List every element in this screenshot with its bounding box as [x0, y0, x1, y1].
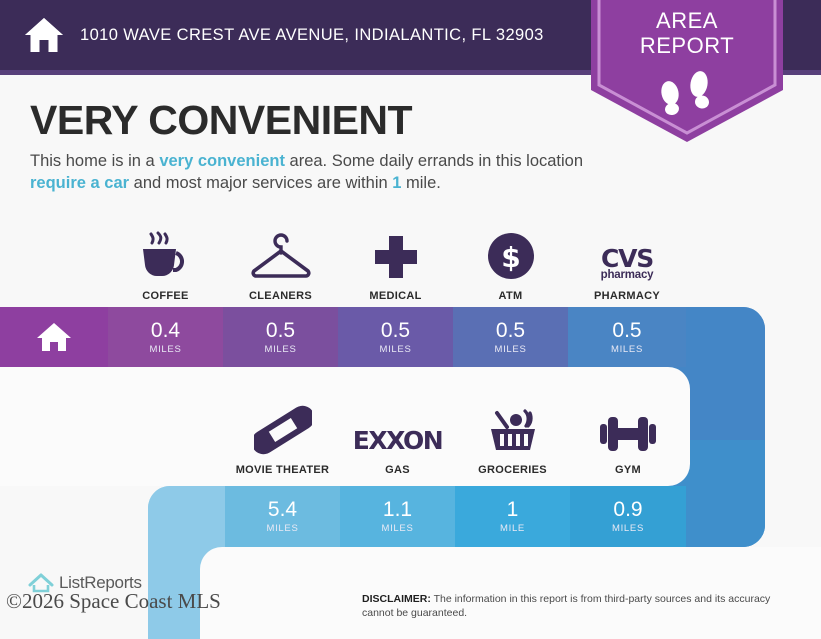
distance-unit: MILES [381, 523, 413, 534]
dumbbell-icon [597, 403, 659, 455]
distance-unit: MILES [379, 344, 411, 355]
desc-text-4: mile. [401, 174, 440, 192]
poi-gym: GYM [570, 396, 686, 476]
distance-value: 5.4 [268, 499, 297, 521]
disclaimer: DISCLAIMER: The information in this repo… [362, 592, 792, 620]
distance-unit: MILES [611, 344, 643, 355]
cvs-pharmacy-logo: CVS pharmacy [601, 229, 654, 281]
coffee-cup-icon [138, 229, 194, 281]
dollar-circle-icon: $ [486, 229, 536, 281]
row1-segment-pharmacy: 0.5 MILES [568, 307, 686, 367]
poi-movie-theater: MOVIE THEATER [225, 396, 340, 476]
distance-value: 0.5 [381, 320, 410, 342]
home-icon [36, 321, 72, 353]
distance-value: 0.5 [266, 320, 295, 342]
area-report-page: 1010 WAVE CREST AVE AVENUE, INDIALANTIC,… [0, 0, 821, 639]
poi-pharmacy: CVS pharmacy PHARMACY [568, 222, 686, 302]
cvs-wordmark: CVS [601, 246, 654, 271]
distance-unit: MILES [264, 344, 296, 355]
row2-segment-movie-theater: 5.4 MILES [225, 486, 340, 547]
poi-medical: MEDICAL [338, 222, 453, 302]
desc-text-3: and most major services are within [129, 174, 392, 192]
mls-watermark: ©2026 Space Coast MLS [6, 589, 221, 614]
row2-segment-tail [686, 486, 765, 547]
row2-segment-gym: 0.9 MILES [570, 486, 686, 547]
row1-segment-cleaners: 0.5 MILES [223, 307, 338, 367]
distance-unit: MILE [500, 523, 525, 534]
distance-unit: MILES [266, 523, 298, 534]
row1-segment-medical: 0.5 MILES [338, 307, 453, 367]
poi-label: GYM [615, 464, 641, 476]
page-title: VERY CONVENIENT [30, 97, 412, 144]
home-icon [22, 13, 66, 57]
poi-gas: EXXON GAS [340, 396, 455, 476]
distance-unit: MILES [494, 344, 526, 355]
poi-label: CLEANERS [249, 290, 312, 302]
row2-lead-segment [148, 486, 225, 547]
poi-label: GROCERIES [478, 464, 547, 476]
poi-label: PHARMACY [594, 290, 660, 302]
distance-value: 0.4 [151, 320, 180, 342]
distance-value: 0.5 [496, 320, 525, 342]
exxon-logo: EXXON [353, 403, 442, 455]
grocery-basket-icon [485, 403, 541, 455]
area-report-badge: AREA REPORT [583, 0, 791, 150]
desc-text-1: This home is in a [30, 152, 159, 170]
row2-icons: MOVIE THEATER EXXON GAS [225, 396, 686, 476]
badge-line-2: REPORT [583, 33, 791, 58]
desc-text-2: area. Some daily errands in this locatio… [285, 152, 583, 170]
row1-distance-bar: 0.4 MILES 0.5 MILES 0.5 MILES 0.5 MILES … [0, 307, 765, 367]
page-description: This home is in a very convenient area. … [30, 150, 590, 194]
distance-unit: MILES [149, 344, 181, 355]
row1-segment-coffee: 0.4 MILES [108, 307, 223, 367]
clothes-hanger-icon [248, 229, 314, 281]
poi-groceries: GROCERIES [455, 396, 570, 476]
poi-atm: $ ATM [453, 222, 568, 302]
row1-icons: COFFEE CLEANERS MEDICAL [108, 222, 686, 302]
row1-home-segment [0, 307, 108, 367]
row2-distance-bar: 5.4 MILES 1.1 MILES 1 MILE 0.9 MILES [148, 486, 765, 547]
exxon-wordmark: EXXON [353, 426, 442, 455]
badge-line-1: AREA [583, 8, 791, 33]
disclaimer-label: DISCLAIMER: [362, 593, 431, 605]
row1-segment-tail [686, 307, 765, 367]
cvs-pharmacy-subtext: pharmacy [601, 270, 654, 282]
movie-ticket-icon [254, 403, 312, 455]
distance-unit: MILES [612, 523, 644, 534]
desc-highlight-2: require a car [30, 174, 129, 192]
header-address: 1010 WAVE CREST AVE AVENUE, INDIALANTIC,… [80, 26, 544, 45]
medical-cross-icon [372, 229, 420, 281]
poi-label: GAS [385, 464, 410, 476]
badge-text: AREA REPORT [583, 8, 791, 58]
row2-segment-gas: 1.1 MILES [340, 486, 455, 547]
poi-label: MEDICAL [369, 290, 421, 302]
desc-highlight-1: very convenient [159, 152, 285, 170]
distance-value: 0.9 [613, 499, 642, 521]
row2-segment-groceries: 1 MILE [455, 486, 570, 547]
distance-value: 1 [507, 499, 519, 521]
distance-value: 0.5 [612, 320, 641, 342]
svg-text:$: $ [501, 241, 520, 274]
distance-value: 1.1 [383, 499, 412, 521]
poi-label: COFFEE [142, 290, 188, 302]
poi-label: ATM [499, 290, 523, 302]
row1-segment-atm: 0.5 MILES [453, 307, 568, 367]
poi-coffee: COFFEE [108, 222, 223, 302]
poi-cleaners: CLEANERS [223, 222, 338, 302]
poi-label: MOVIE THEATER [236, 464, 330, 476]
